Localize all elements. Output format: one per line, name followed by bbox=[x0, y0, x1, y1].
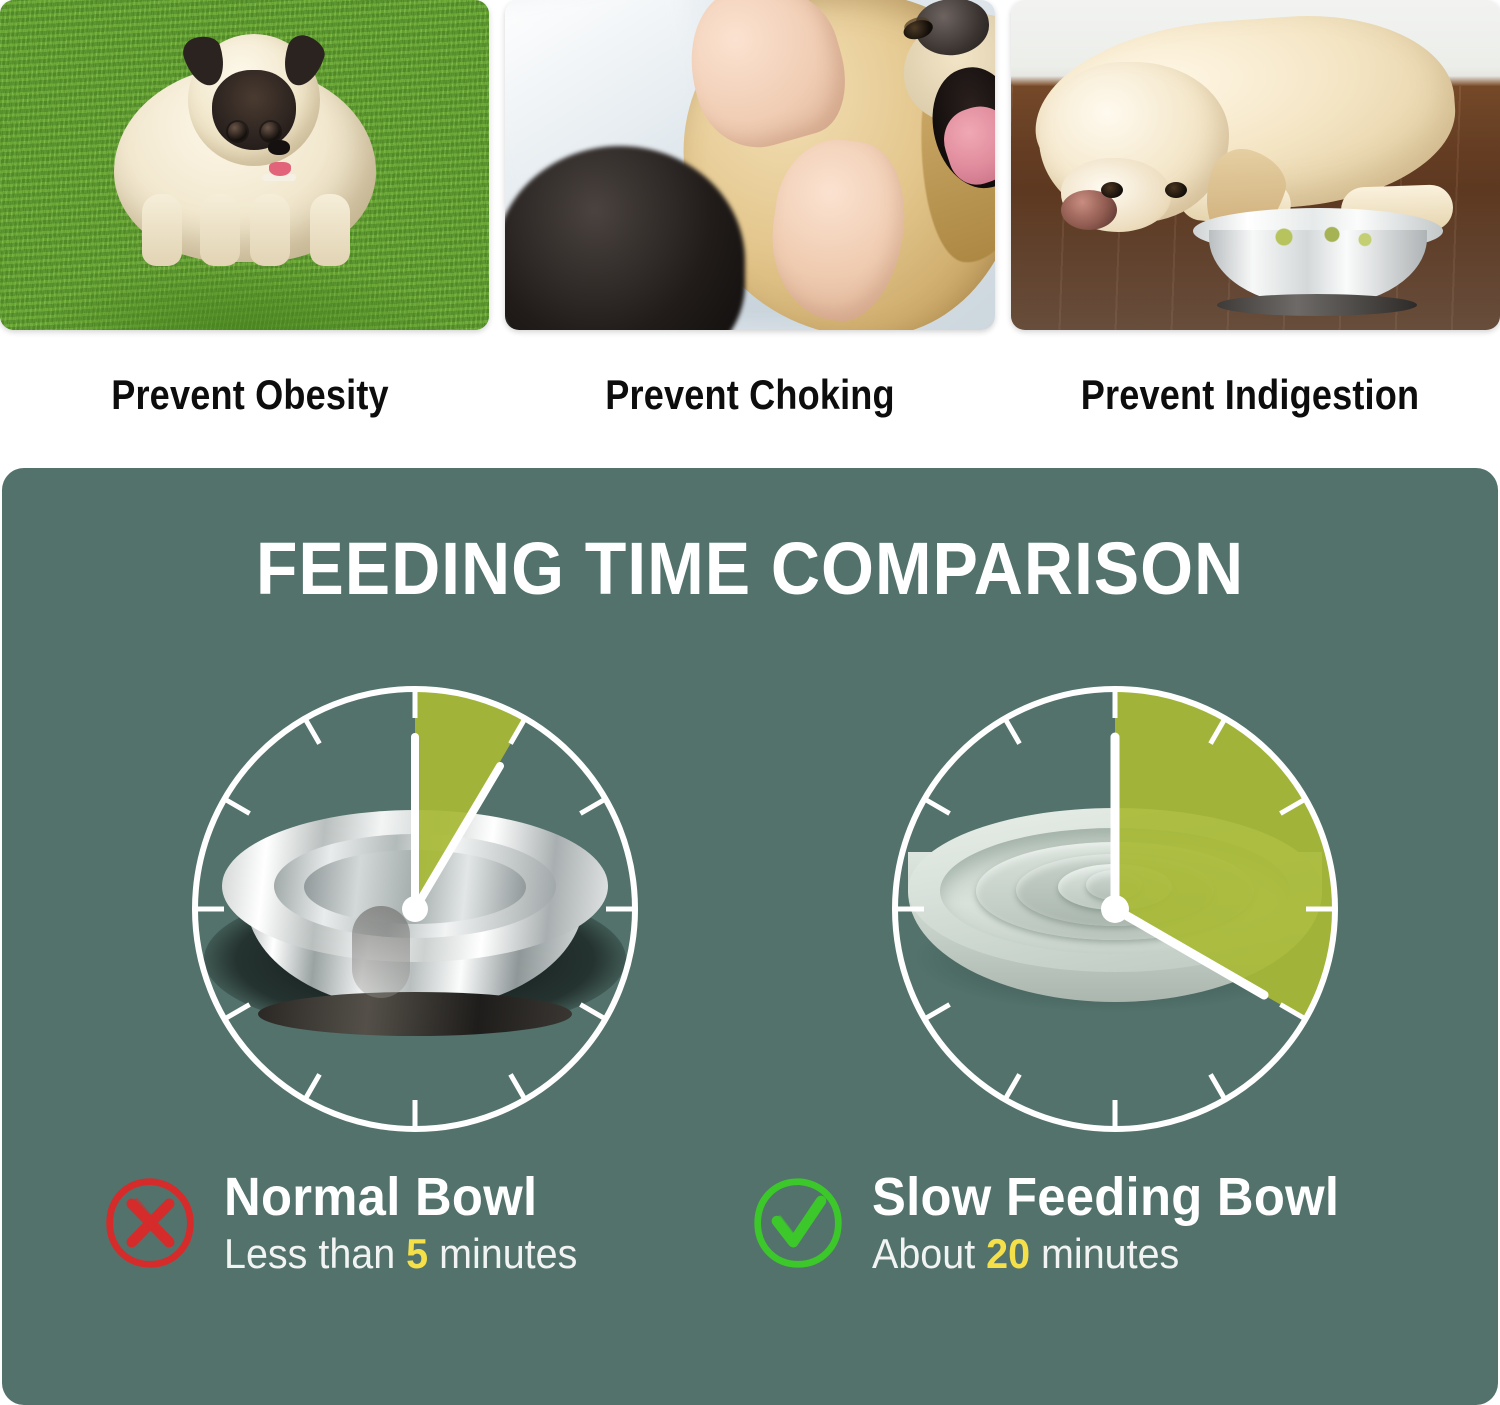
result-sub-prefix-normal: Less than bbox=[224, 1230, 395, 1277]
stainless-food-bowl bbox=[1193, 208, 1443, 312]
benefit-photo-prevent-indigestion bbox=[1011, 0, 1500, 330]
benefit-photo-prevent-choking bbox=[505, 0, 994, 330]
panel-title: FEEDING TIME COMPARISON bbox=[62, 526, 1438, 611]
caption-prevent-indigestion: Prevent Indigestion bbox=[1035, 330, 1465, 460]
comparison-results: Normal Bowl Less than 5 minutes Slow Fee… bbox=[2, 1168, 1498, 1328]
clock-gauges bbox=[2, 674, 1498, 1144]
obese-pug-illustration bbox=[96, 28, 396, 296]
benefit-caption-row: Prevent Obesity Prevent Choking Prevent … bbox=[0, 330, 1500, 460]
labrador-head bbox=[1039, 62, 1229, 222]
circle-check-icon bbox=[750, 1175, 846, 1271]
gauge-slow-feeding-bowl bbox=[880, 674, 1350, 1144]
dial-hub-slow bbox=[1101, 895, 1129, 923]
gauge-dial-normal bbox=[180, 674, 650, 1144]
result-normal-bowl: Normal Bowl Less than 5 minutes bbox=[102, 1168, 600, 1278]
result-sub-value-normal: 5 bbox=[406, 1230, 428, 1277]
result-subtitle-slow-feeding-bowl: About 20 minutes bbox=[872, 1230, 1339, 1278]
result-title-normal-bowl: Normal Bowl bbox=[224, 1168, 577, 1226]
circle-x-icon bbox=[102, 1175, 198, 1271]
caption-prevent-choking: Prevent Choking bbox=[535, 330, 965, 460]
gauge-normal-bowl bbox=[180, 674, 650, 1144]
result-slow-feeding-bowl: Slow Feeding Bowl About 20 minutes bbox=[750, 1168, 1369, 1278]
result-sub-value-slow: 20 bbox=[986, 1230, 1030, 1277]
result-title-slow-feeding-bowl: Slow Feeding Bowl bbox=[872, 1168, 1339, 1226]
result-sub-prefix-slow: About bbox=[872, 1230, 975, 1277]
result-sub-suffix-slow: minutes bbox=[1041, 1230, 1179, 1277]
caption-prevent-obesity: Prevent Obesity bbox=[35, 330, 465, 460]
benefit-photo-prevent-obesity bbox=[0, 0, 489, 330]
result-sub-suffix-normal: minutes bbox=[439, 1230, 577, 1277]
gauge-dial-slow bbox=[880, 674, 1350, 1144]
result-subtitle-normal-bowl: Less than 5 minutes bbox=[224, 1230, 577, 1278]
feeding-time-comparison-panel: FEEDING TIME COMPARISON bbox=[2, 468, 1498, 1405]
benefit-photo-strip bbox=[0, 0, 1500, 330]
dial-hub-normal bbox=[402, 896, 428, 922]
